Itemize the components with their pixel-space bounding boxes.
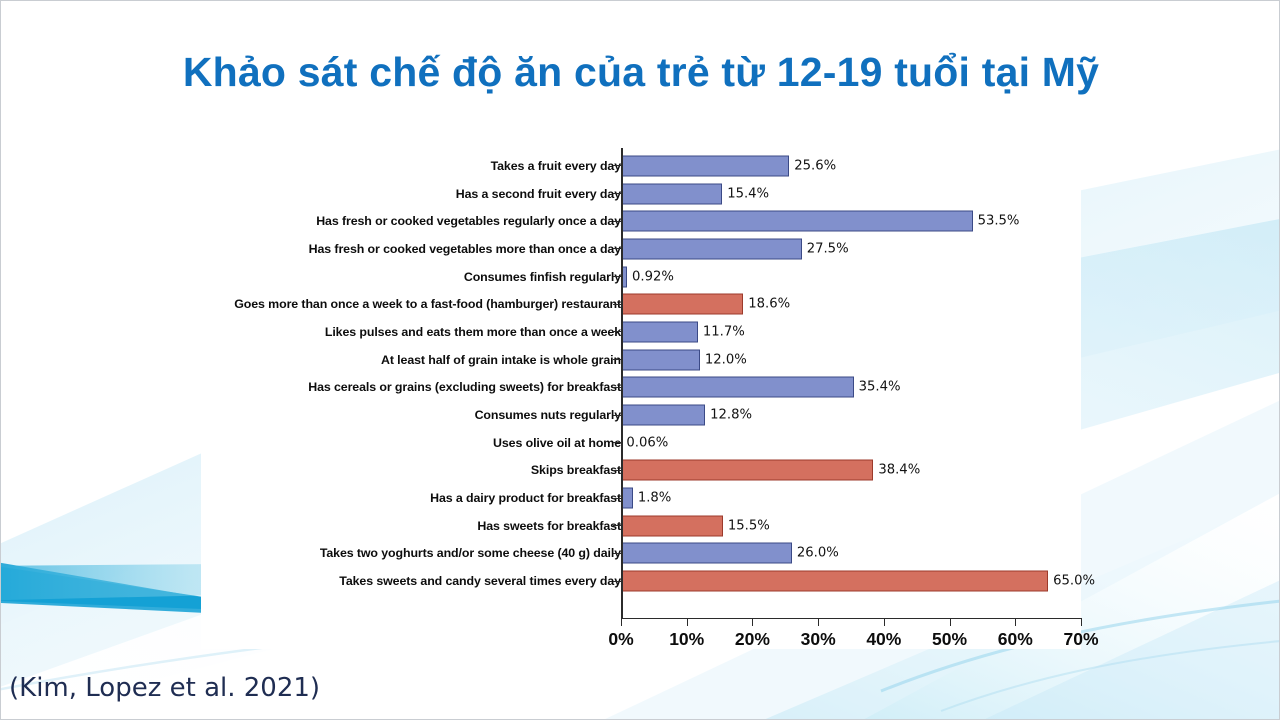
bar-track: 12.8% [621, 401, 1081, 429]
category-label: Takes sweets and candy several times eve… [201, 574, 621, 588]
bar [621, 155, 789, 176]
y-axis-tick [613, 248, 621, 249]
y-axis-tick [613, 165, 621, 166]
x-axis-tick [687, 618, 688, 626]
bar [621, 460, 873, 481]
category-label: At least half of grain intake is whole g… [201, 353, 621, 367]
category-label: Uses olive oil at home [201, 436, 621, 450]
category-label: Has fresh or cooked vegetables regularly… [201, 214, 621, 228]
bar [621, 377, 854, 398]
y-axis-tick [613, 387, 621, 388]
bar-value-label: 26.0% [797, 546, 839, 561]
bar-value-label: 12.8% [710, 408, 752, 423]
y-axis-tick [613, 304, 621, 305]
bar-track: 11.7% [621, 318, 1081, 346]
x-axis-line [621, 618, 1081, 619]
bar-track: 25.6% [621, 152, 1081, 180]
bar-row: Goes more than once a week to a fast-foo… [201, 290, 1081, 318]
y-axis-tick [613, 442, 621, 443]
y-axis-line [621, 148, 623, 618]
x-axis-tick-label: 10% [669, 629, 704, 650]
y-axis-tick [613, 359, 621, 360]
category-label: Takes a fruit every day [201, 159, 621, 173]
y-axis-tick [613, 498, 621, 499]
bar-value-label: 35.4% [859, 380, 901, 395]
bar [621, 405, 705, 426]
bar-track: 12.0% [621, 346, 1081, 374]
y-axis-tick [613, 193, 621, 194]
category-label: Skips breakfast [201, 463, 621, 477]
bar [621, 294, 743, 315]
citation-text: (Kim, Lopez et al. 2021) [9, 673, 320, 703]
bar-value-label: 1.8% [638, 491, 672, 506]
y-axis-tick [613, 470, 621, 471]
x-axis-tick [1015, 618, 1016, 626]
x-axis-tick-label: 0% [608, 629, 633, 650]
x-axis-tick [884, 618, 885, 626]
x-axis-tick-label: 50% [932, 629, 967, 650]
category-label: Has a dairy product for breakfast [201, 491, 621, 505]
bar-track: 18.6% [621, 290, 1081, 318]
bar-value-label: 38.4% [878, 463, 920, 478]
y-axis-tick [613, 415, 621, 416]
category-label: Takes two yoghurts and/or some cheese (4… [201, 546, 621, 560]
bar-track: 65.0% [621, 567, 1081, 595]
bar [621, 183, 722, 204]
x-axis-tick-label: 40% [866, 629, 901, 650]
bar-track: 15.4% [621, 180, 1081, 208]
category-label: Likes pulses and eats them more than onc… [201, 325, 621, 339]
bar-track: 27.5% [621, 235, 1081, 263]
bar [621, 543, 792, 564]
bar-value-label: 53.5% [978, 214, 1020, 229]
bar-row: Has fresh or cooked vegetables more than… [201, 235, 1081, 263]
plot-area: Takes a fruit every day25.6%Has a second… [201, 133, 1081, 649]
bar-row: Has a dairy product for breakfast1.8% [201, 484, 1081, 512]
bar-row: Has a second fruit every day15.4% [201, 180, 1081, 208]
x-axis-tick-label: 30% [801, 629, 836, 650]
page-title: Khảo sát chế độ ăn của trẻ từ 12-19 tuổi… [1, 49, 1280, 96]
bar-track: 38.4% [621, 457, 1081, 485]
bar-row: Has sweets for breakfast15.5% [201, 512, 1081, 540]
y-axis-tick [613, 581, 621, 582]
bar-row: Consumes nuts regularly12.8% [201, 401, 1081, 429]
category-label: Goes more than once a week to a fast-foo… [201, 297, 621, 311]
x-axis-tick [950, 618, 951, 626]
bar-row: Takes two yoghurts and/or some cheese (4… [201, 540, 1081, 568]
bar [621, 349, 700, 370]
bar-rows: Takes a fruit every day25.6%Has a second… [201, 152, 1081, 595]
bar-row: Has fresh or cooked vegetables regularly… [201, 207, 1081, 235]
bar-value-label: 25.6% [794, 158, 836, 173]
category-label: Consumes nuts regularly [201, 408, 621, 422]
bar [621, 238, 802, 259]
x-axis-tick-label: 60% [998, 629, 1033, 650]
x-axis-tick [621, 618, 622, 626]
category-label: Has cereals or grains (excluding sweets)… [201, 380, 621, 394]
category-label: Has fresh or cooked vegetables more than… [201, 242, 621, 256]
bar-value-label: 27.5% [807, 241, 849, 256]
bar-row: At least half of grain intake is whole g… [201, 346, 1081, 374]
bar-track: 53.5% [621, 207, 1081, 235]
category-label: Consumes finfish regularly [201, 270, 621, 284]
bar-chart: Takes a fruit every day25.6%Has a second… [201, 133, 1081, 649]
bar-value-label: 0.92% [632, 269, 674, 284]
bar-value-label: 15.5% [728, 518, 770, 533]
category-label: Has a second fruit every day [201, 187, 621, 201]
y-axis-tick [613, 221, 621, 222]
y-axis-tick [613, 331, 621, 332]
bar-track: 26.0% [621, 540, 1081, 568]
bar-row: Consumes finfish regularly0.92% [201, 263, 1081, 291]
bar-value-label: 11.7% [703, 324, 745, 339]
bar [621, 211, 973, 232]
bar-track: 15.5% [621, 512, 1081, 540]
bar [621, 321, 698, 342]
bar-track: 35.4% [621, 374, 1081, 402]
bar-row: Skips breakfast38.4% [201, 457, 1081, 485]
slide: Khảo sát chế độ ăn của trẻ từ 12-19 tuổi… [0, 0, 1280, 720]
bar-track: 0.06% [621, 429, 1081, 457]
bar-row: Takes a fruit every day25.6% [201, 152, 1081, 180]
bar-value-label: 12.0% [705, 352, 747, 367]
category-label: Has sweets for breakfast [201, 519, 621, 533]
x-axis-tick-label: 70% [1063, 629, 1098, 650]
bar-track: 0.92% [621, 263, 1081, 291]
x-axis-tick [1081, 618, 1082, 626]
bar-value-label: 15.4% [727, 186, 769, 201]
bar [621, 571, 1048, 592]
bar-row: Has cereals or grains (excluding sweets)… [201, 374, 1081, 402]
x-axis-tick [752, 618, 753, 626]
x-axis-tick [818, 618, 819, 626]
y-axis-tick [613, 553, 621, 554]
bar-value-label: 65.0% [1053, 574, 1095, 589]
bar-value-label: 18.6% [748, 297, 790, 312]
bar-row: Takes sweets and candy several times eve… [201, 567, 1081, 595]
x-axis-tick-label: 20% [735, 629, 770, 650]
bar [621, 515, 723, 536]
bar-track: 1.8% [621, 484, 1081, 512]
y-axis-tick [613, 525, 621, 526]
bar-value-label: 0.06% [626, 435, 668, 450]
bar-row: Uses olive oil at home0.06% [201, 429, 1081, 457]
y-axis-tick [613, 276, 621, 277]
bar-row: Likes pulses and eats them more than onc… [201, 318, 1081, 346]
